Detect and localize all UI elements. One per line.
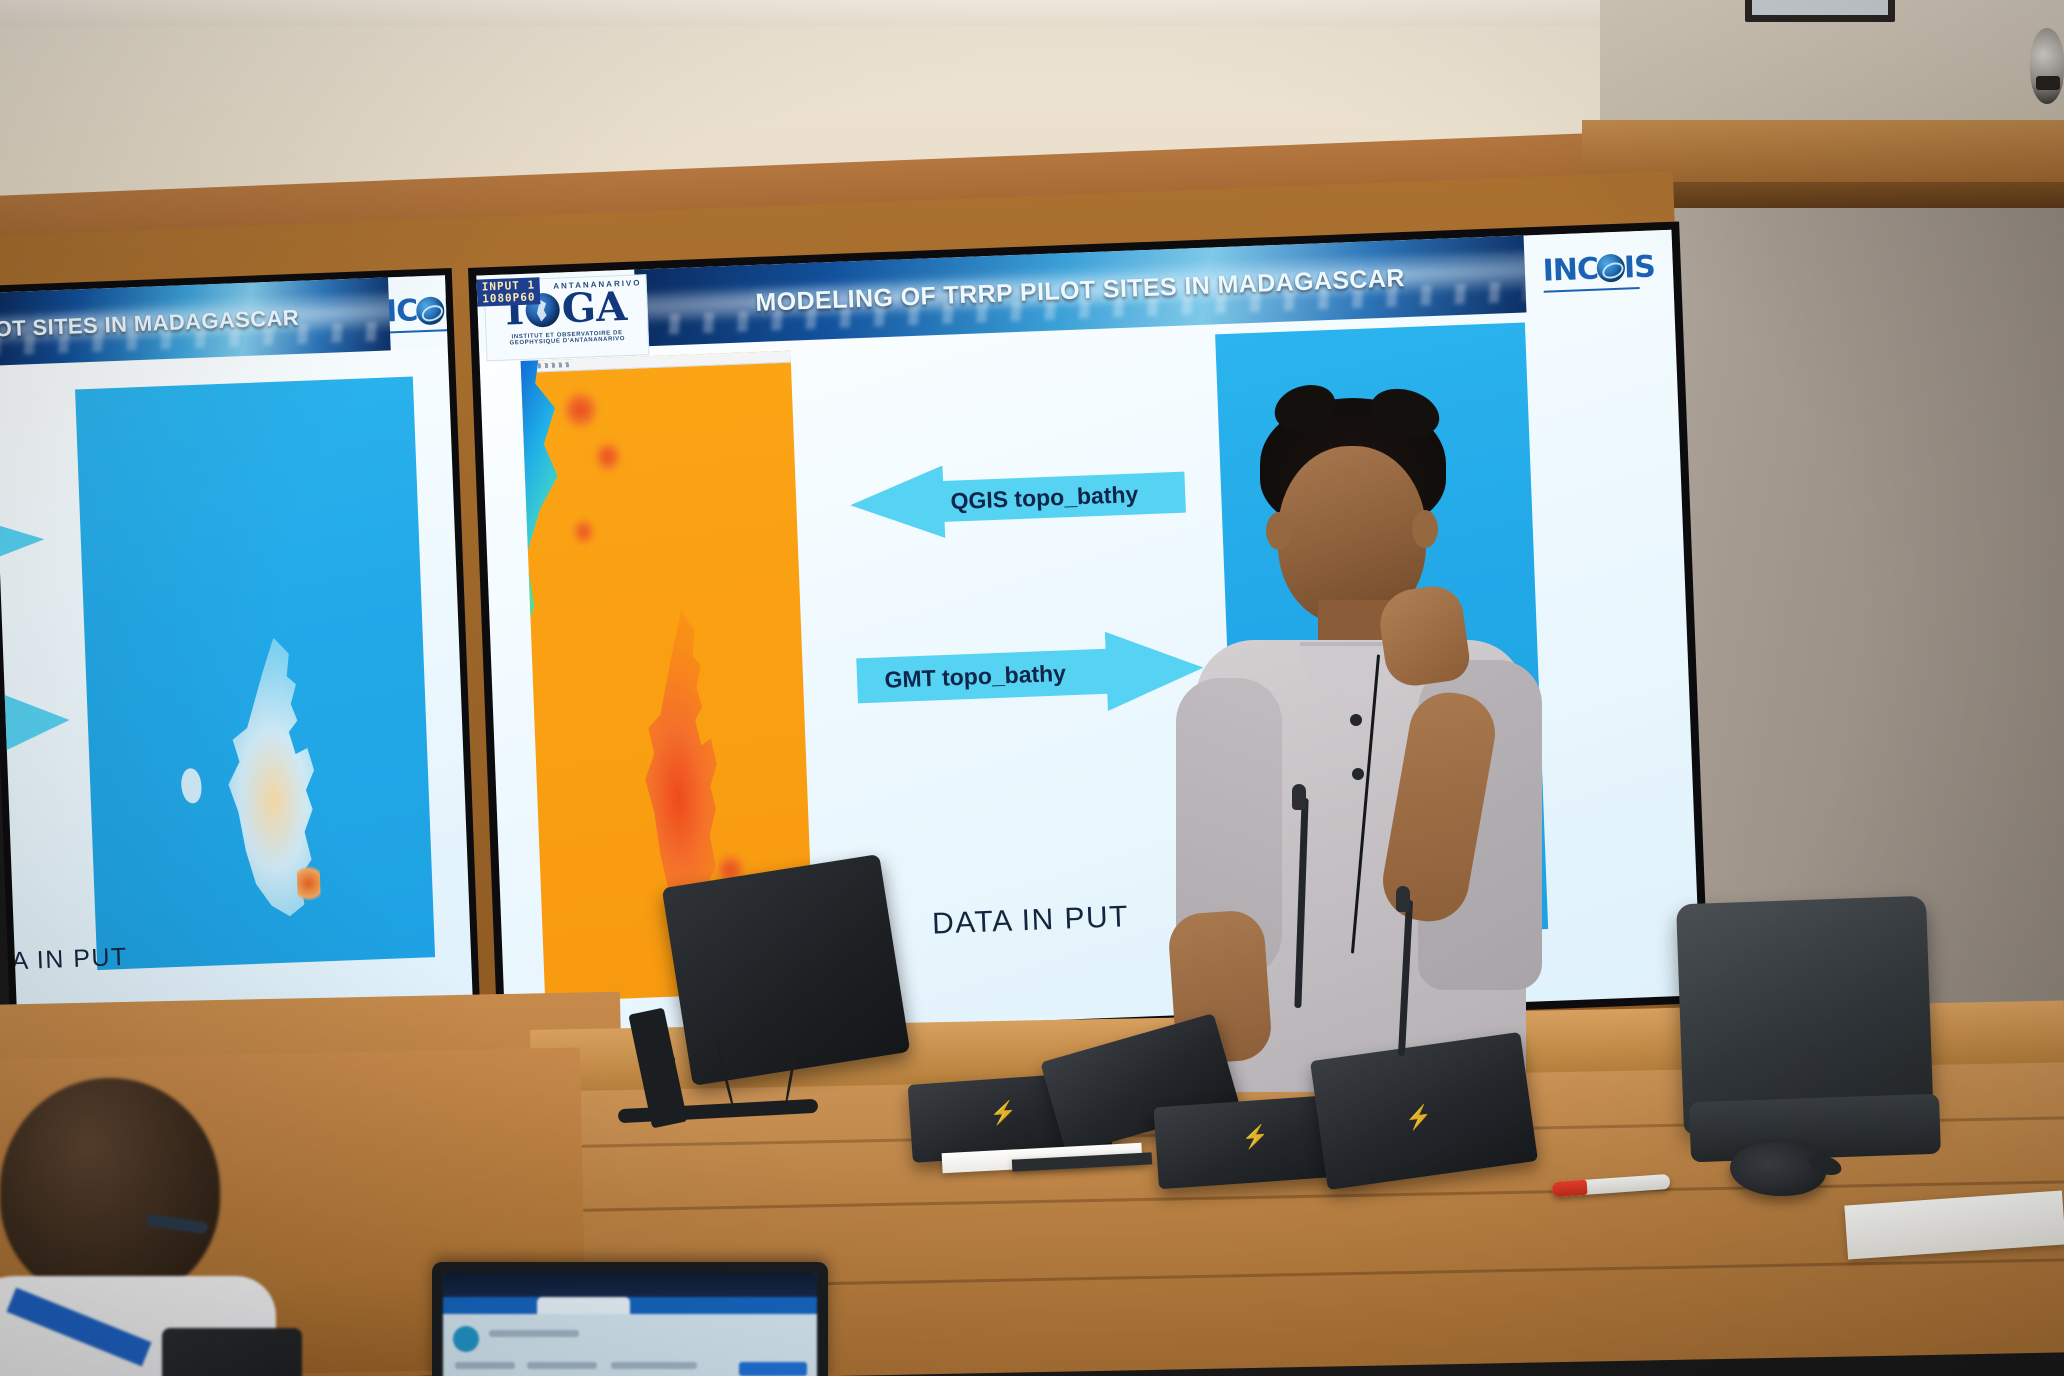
presenter-shirt-button-2 <box>1352 768 1364 780</box>
seated-attendee <box>0 1078 300 1376</box>
center-incois-logo: INC IS <box>1523 230 1674 312</box>
left-arrow-bottom-head <box>0 680 71 763</box>
laptop-text-line-4 <box>611 1362 697 1369</box>
laptop-tab-strip[interactable] <box>443 1297 817 1314</box>
laptop-text-line-1 <box>489 1330 579 1337</box>
gooseneck-microphone-right-head <box>1396 886 1410 912</box>
marker-cap <box>1552 1180 1588 1197</box>
ceiling-speaker-icon <box>2030 28 2064 104</box>
presenter-shirt-button-1 <box>1350 714 1362 726</box>
left-incois-logo: INC IS <box>388 275 447 351</box>
incois-wordmark: INC <box>1542 251 1599 288</box>
left-qgis-topo-map <box>75 376 435 970</box>
left-slide-body: opo_bathy o_bathy TA IN PUT <box>0 349 473 1027</box>
laptop-avatar <box>453 1326 479 1352</box>
left-islet-shape <box>181 768 203 804</box>
laptop-tab-2-active[interactable] <box>537 1297 631 1314</box>
headset[interactable] <box>1730 1142 1826 1196</box>
left-slide: OT SITES IN MADAGASCAR INC IS <box>0 275 473 1026</box>
gmt-hotspot-2 <box>596 441 619 474</box>
presenter-hand-right <box>1376 583 1473 690</box>
laptop-window-titlebar <box>443 1273 817 1297</box>
left-data-input-caption: TA IN PUT <box>0 943 128 977</box>
data-input-caption: DATA IN PUT <box>931 900 1129 942</box>
wall-control-window <box>1745 0 1895 22</box>
presenter-ear-left <box>1266 512 1292 550</box>
gooseneck-microphone-left-head <box>1292 784 1306 810</box>
qgis-arrow-head <box>849 465 945 541</box>
incois-globe-icon <box>416 296 445 325</box>
laptop-primary-button[interactable] <box>739 1362 807 1376</box>
seated-attendee-bag <box>162 1328 302 1376</box>
left-peak-hotspot <box>296 863 321 905</box>
left-arrow-bottom: o_bathy <box>0 680 71 772</box>
left-island-shape <box>196 635 355 920</box>
incois-wordmark-end: IS <box>1623 249 1655 285</box>
gmt-hotspot-3 <box>575 519 592 545</box>
laptop-window-content <box>443 1314 817 1376</box>
ceiling-strip <box>0 0 1660 26</box>
conference-room-scene: OT SITES IN MADAGASCAR INC IS <box>0 0 2064 1376</box>
ioga-letter-ga: GA <box>561 291 627 325</box>
left-display[interactable]: OT SITES IN MADAGASCAR INC IS <box>0 268 480 1033</box>
tablet-logo-center: ⚡ <box>1241 1124 1270 1152</box>
incois-globe-icon <box>1596 254 1625 283</box>
gmt-hotspot-1 <box>565 390 596 430</box>
podium-monitor[interactable] <box>662 854 911 1086</box>
laptop-text-line-2 <box>455 1362 515 1369</box>
laptop-text-line-3 <box>527 1362 597 1369</box>
attendee-laptop[interactable] <box>432 1262 828 1376</box>
tablet-logo-right: ⚡ <box>1403 1103 1434 1133</box>
laptop-tab-1[interactable] <box>443 1297 537 1314</box>
laptop-tab-3[interactable] <box>630 1297 724 1314</box>
projector-osd-overlay: INPUT 1 1080P60 <box>476 277 540 307</box>
laptop-tab-4[interactable] <box>724 1297 818 1314</box>
seated-attendee-head <box>0 1078 220 1302</box>
left-arrow-top-head <box>0 510 46 573</box>
attendee-laptop-screen[interactable] <box>443 1273 817 1376</box>
qgis-window-chrome <box>520 351 791 373</box>
gmt-arrow: GMT topo_bathy <box>855 628 1205 721</box>
qgis-arrow: QGIS topo_bathy <box>849 456 1186 541</box>
presenter <box>1168 392 1568 1092</box>
tablet-logo-left: ⚡ <box>989 1100 1018 1128</box>
osd-line-format: 1080P60 <box>482 291 536 305</box>
presenter-ear-right <box>1412 510 1438 548</box>
left-arrow-top: opo_bathy <box>0 510 46 581</box>
